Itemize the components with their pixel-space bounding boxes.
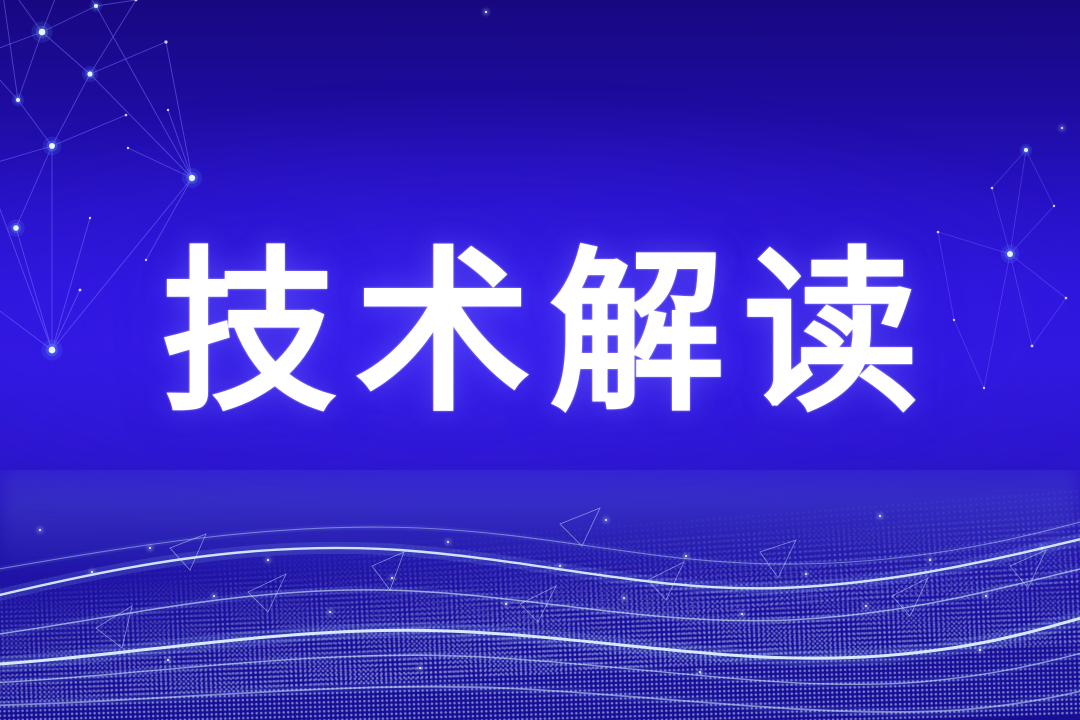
particle-wave-field	[0, 470, 1080, 720]
technology-banner: 技术解读	[0, 0, 1080, 720]
banner-title: 技术解读	[0, 246, 1080, 422]
